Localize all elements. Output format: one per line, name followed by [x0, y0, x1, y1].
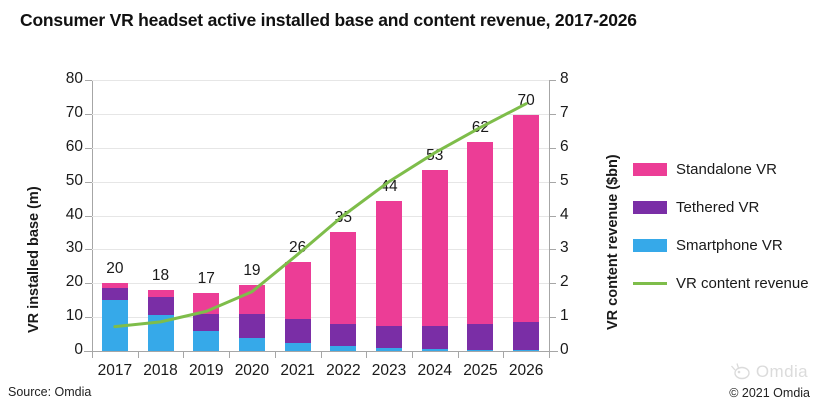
y-tick-label-right: 4	[560, 206, 569, 224]
y-tick-right	[549, 216, 556, 217]
y-tick-label-right: 8	[560, 70, 569, 88]
x-tick	[458, 351, 459, 358]
y-tick-left	[85, 182, 92, 183]
y-tick-right	[549, 351, 556, 352]
x-tick	[229, 351, 230, 358]
y-tick-left	[85, 351, 92, 352]
legend-item-label: Tethered VR	[676, 199, 759, 216]
x-tick	[366, 351, 367, 358]
y-tick-left	[85, 283, 92, 284]
omdia-logo-icon	[730, 362, 752, 382]
legend-item[interactable]: Tethered VR	[633, 188, 818, 226]
y-tick-right	[549, 80, 556, 81]
legend-line-swatch-icon	[633, 277, 667, 290]
y-axis-left-title: VR installed base (m)	[26, 186, 42, 333]
x-tick	[412, 351, 413, 358]
y-tick-left	[85, 114, 92, 115]
y-tick-right	[549, 148, 556, 149]
y-tick-label-left: 0	[74, 341, 83, 359]
x-tick	[503, 351, 504, 358]
source-note: Source: Omdia	[8, 385, 91, 399]
y-tick-left	[85, 249, 92, 250]
y-tick-label-left: 20	[66, 273, 83, 291]
x-tick	[183, 351, 184, 358]
y-tick-label-left: 50	[66, 172, 83, 190]
y-tick-left	[85, 317, 92, 318]
legend-color-swatch-icon	[633, 201, 667, 214]
legend-item-label: Standalone VR	[676, 161, 777, 178]
y-tick-left	[85, 216, 92, 217]
legend: Standalone VRTethered VRSmartphone VRVR …	[633, 150, 818, 302]
y-tick-right	[549, 283, 556, 284]
y-tick-label-right: 7	[560, 104, 569, 122]
y-tick-label-right: 2	[560, 273, 569, 291]
y-axis-right-title: VR content revenue ($bn)	[605, 154, 621, 330]
y-tick-label-left: 30	[66, 239, 83, 257]
y-tick-label-left: 10	[66, 307, 83, 325]
line-series-revenue	[92, 80, 549, 351]
y-tick-label-left: 80	[66, 70, 83, 88]
omdia-watermark-text: Omdia	[756, 362, 808, 382]
y-tick-label-left: 70	[66, 104, 83, 122]
legend-item[interactable]: Smartphone VR	[633, 226, 818, 264]
y-tick-label-left: 60	[66, 138, 83, 156]
y-tick-right	[549, 182, 556, 183]
x-tick	[138, 351, 139, 358]
x-tick	[92, 351, 93, 358]
y-tick-label-right: 0	[560, 341, 569, 359]
y-tick-right	[549, 249, 556, 250]
y-tick-right	[549, 114, 556, 115]
legend-item[interactable]: Standalone VR	[633, 150, 818, 188]
y-tick-label-right: 3	[560, 239, 569, 257]
x-axis-label-2026: 2026	[499, 362, 553, 380]
copyright-note: © 2021 Omdia	[729, 386, 810, 400]
x-tick	[275, 351, 276, 358]
legend-color-swatch-icon	[633, 163, 667, 176]
y-tick-label-left: 40	[66, 206, 83, 224]
y-tick-label-right: 5	[560, 172, 569, 190]
y-tick-left	[85, 80, 92, 81]
plot-area: 01020304050607080 012345678 201817192635…	[92, 80, 549, 351]
x-tick	[321, 351, 322, 358]
omdia-watermark: Omdia	[730, 362, 808, 382]
legend-item-label: VR content revenue	[676, 275, 809, 292]
page-title: Consumer VR headset active installed bas…	[20, 10, 800, 31]
y-tick-label-right: 1	[560, 307, 569, 325]
y-tick-left	[85, 148, 92, 149]
y-tick-right	[549, 317, 556, 318]
y-tick-label-right: 6	[560, 138, 569, 156]
legend-item-label: Smartphone VR	[676, 237, 783, 254]
x-tick	[549, 351, 550, 358]
legend-item[interactable]: VR content revenue	[633, 264, 818, 302]
legend-color-swatch-icon	[633, 239, 667, 252]
chart-root: Consumer VR headset active installed bas…	[0, 0, 820, 410]
